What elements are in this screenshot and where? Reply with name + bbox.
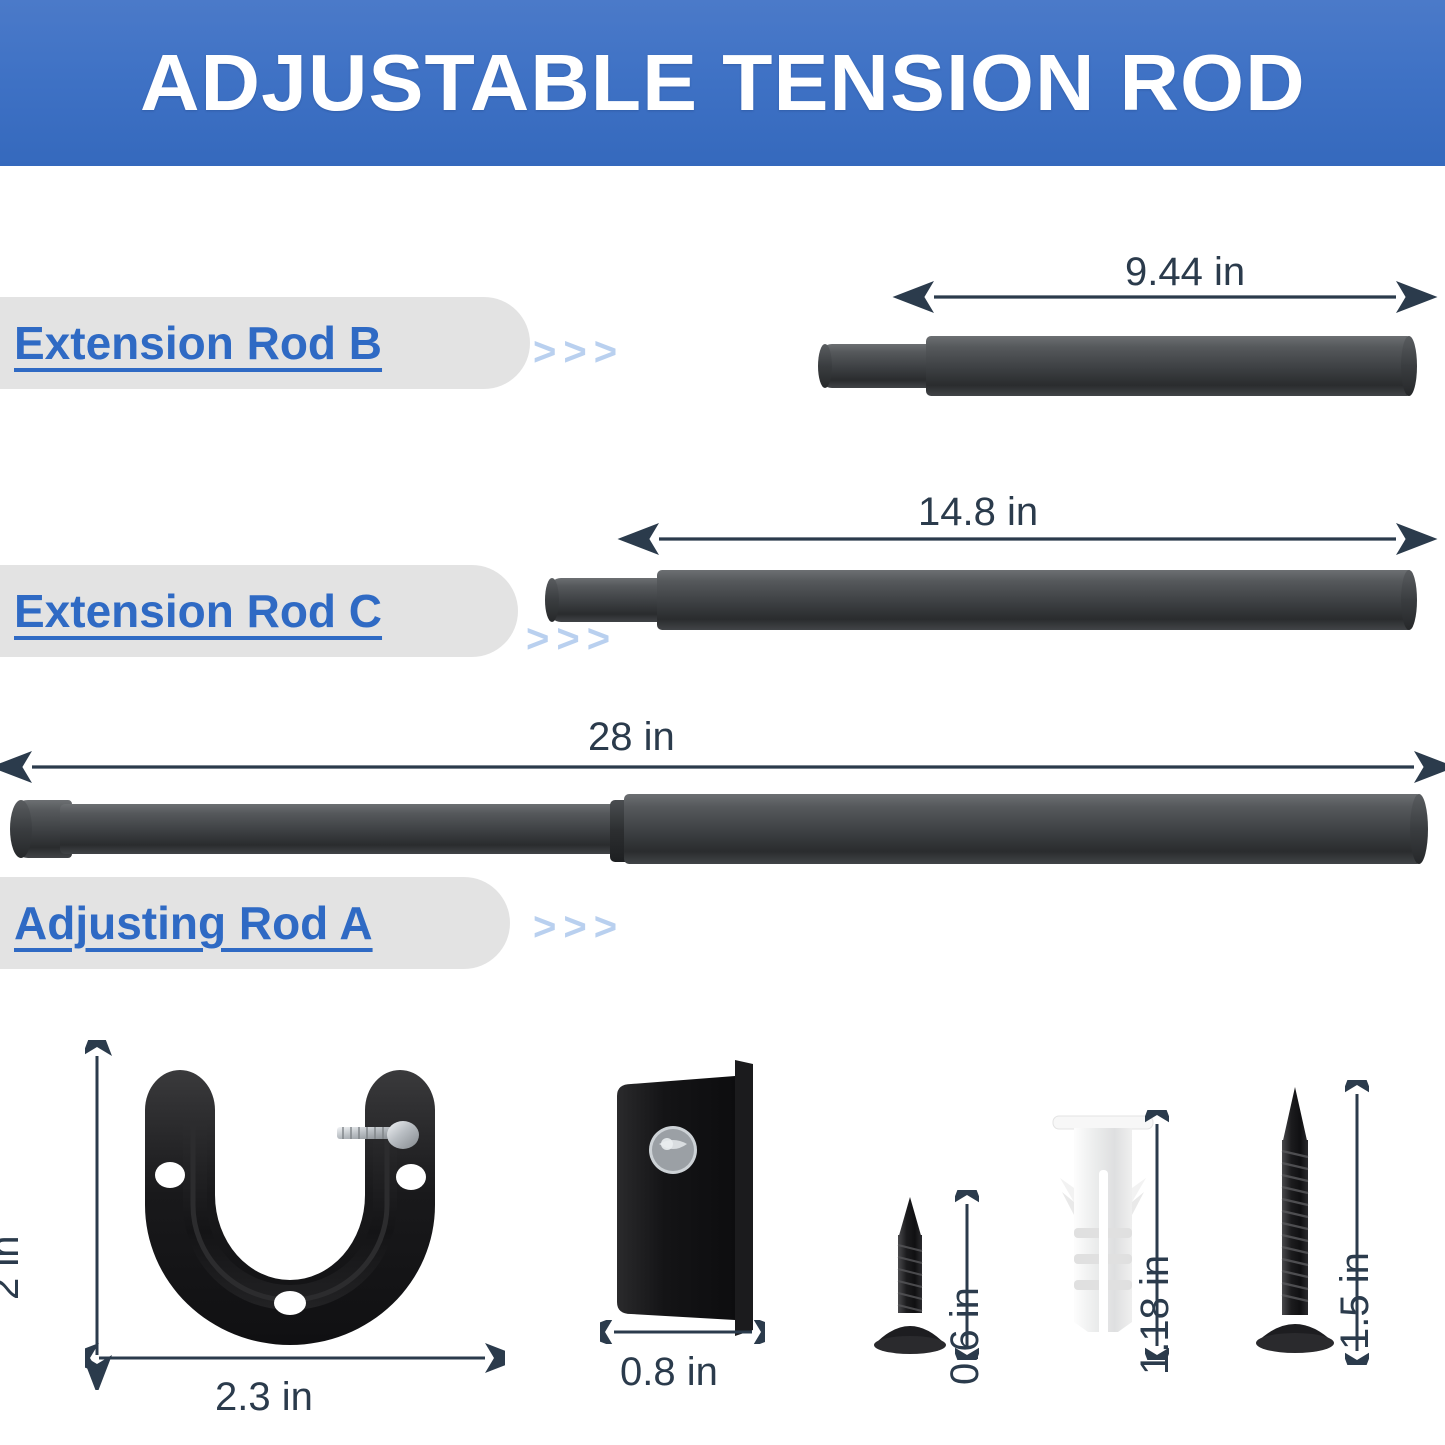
rod-c-graphic (545, 560, 1420, 640)
dimension-bracket-height: 2 in (0, 1236, 28, 1301)
rod-b-right-tip (1401, 336, 1417, 396)
bracket-side-dimension-line (600, 1320, 765, 1344)
rod-a-right-tip (1410, 794, 1428, 864)
rod-c-body (657, 570, 1413, 630)
rod-a-thick-body (624, 794, 1422, 864)
label-pill-rod-c: Extension Rod C (0, 565, 518, 657)
header-banner: ADJUSTABLE TENSION ROD (0, 0, 1445, 166)
dimension-long-screw: 1.5 in (1333, 1252, 1378, 1350)
rod-b-thin-end (820, 344, 932, 388)
rod-a-graphic (10, 786, 1430, 876)
dimension-bracket-depth: 0.8 in (620, 1350, 718, 1395)
rod-c-left-tip (545, 578, 559, 622)
dimension-line-rod-a (18, 755, 1428, 779)
rod-b-graphic (818, 330, 1418, 402)
rod-c-right-tip (1401, 570, 1417, 630)
rod-c-thin-end (549, 578, 667, 622)
label-pill-rod-b: Extension Rod B (0, 297, 530, 389)
rod-a-thin-body (60, 804, 650, 854)
rod-b-left-tip (818, 344, 832, 388)
dimension-rod-a: 28 in (588, 715, 675, 760)
dimension-wall-anchor: 1.18 in (1133, 1255, 1178, 1375)
label-pill-rod-a: Adjusting Rod A (0, 877, 510, 969)
rod-b-body (926, 336, 1412, 396)
label-rod-c: Extension Rod C (14, 584, 382, 638)
label-rod-a: Adjusting Rod A (14, 896, 373, 950)
rod-a-left-tip (10, 800, 32, 858)
label-rod-b: Extension Rod B (14, 316, 382, 370)
dimension-short-screw: 0.6 in (943, 1287, 988, 1385)
page-title: ADJUSTABLE TENSION ROD (140, 37, 1306, 129)
dimension-line-rod-c (645, 527, 1410, 551)
u-bracket-side-icon (595, 1058, 785, 1348)
short-screw-icon (870, 1195, 950, 1355)
long-screw-icon (1250, 1085, 1340, 1360)
chevrons-rod-b: >>> (533, 330, 624, 375)
dimension-bracket-width: 2.3 in (215, 1375, 313, 1420)
u-bracket-front-icon (115, 1055, 465, 1355)
chevrons-rod-a: >>> (533, 905, 624, 950)
dimension-line-rod-b (920, 285, 1410, 309)
